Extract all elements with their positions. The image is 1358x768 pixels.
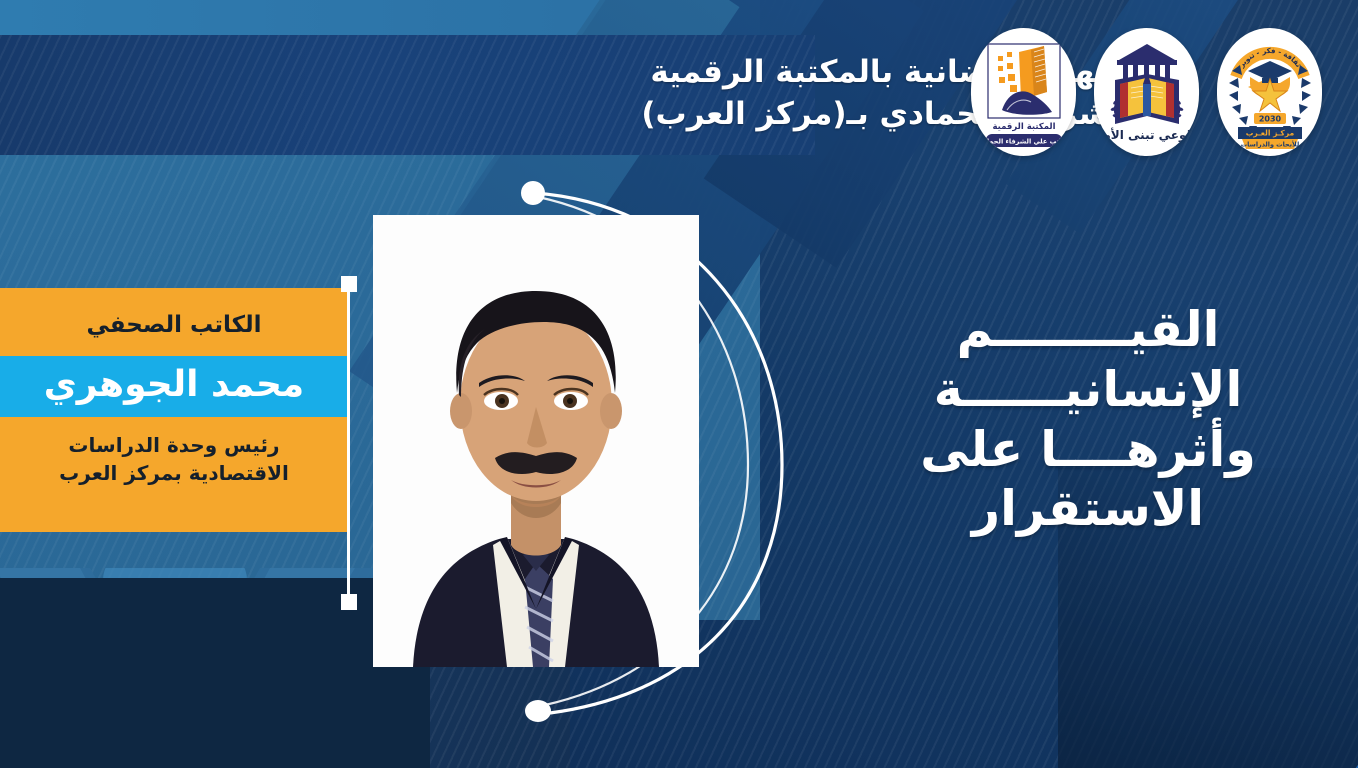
headline-line-1: القيــــــــم <box>878 300 1298 360</box>
book-temple-pen-icon: بالوعي تبنى الأمم <box>1097 32 1197 152</box>
svg-text:للكاتب علي الشرفاء الحمادي: للكاتب علي الشرفاء الحمادي <box>977 138 1070 146</box>
event-poster: سهرة رمضانية بالمكتبة الرقمية للشرفاء ال… <box>0 0 1358 768</box>
open-book-pixels-icon: المكتبة الرقمية للكاتب علي الشرفاء الحما… <box>974 32 1074 152</box>
speaker-role-bottom-line-2: الاقتصادية بمركز العرب <box>18 459 330 487</box>
svg-text:بالوعي تبنى الأمم: بالوعي تبنى الأمم <box>1097 127 1197 143</box>
arab-center-logo[interactable]: ثقافة - فكر - تنوير <box>1217 28 1322 156</box>
digital-library-logo[interactable]: المكتبة الرقمية للكاتب علي الشرفاء الحما… <box>971 28 1076 156</box>
card-connector-line <box>347 282 350 602</box>
headline-line-4: الاستقرار <box>878 479 1298 539</box>
svg-text:مركـز العـرب: مركـز العـرب <box>1245 129 1294 138</box>
awareness-logo[interactable]: بالوعي تبنى الأمم <box>1094 28 1199 156</box>
speaker-role-bottom: رئيس وحدة الدراسات الاقتصادية بمركز العر… <box>0 417 348 532</box>
headline-line-3: وأثرهــــا على <box>878 420 1298 480</box>
card-connector-square-top <box>341 276 357 292</box>
speaker-role-bottom-line-1: رئيس وحدة الدراسات <box>18 431 330 459</box>
speaker-info-card: الكاتب الصحفي محمد الجوهري رئيس وحدة الد… <box>0 288 348 532</box>
logo-row: المكتبة الرقمية للكاتب علي الشرفاء الحما… <box>971 28 1322 156</box>
speaker-photo <box>373 215 699 667</box>
speaker-name: محمد الجوهري <box>0 356 348 417</box>
speaker-role-top: الكاتب الصحفي <box>0 288 348 356</box>
svg-text:للأبحاث والدراسات: للأبحاث والدراسات <box>1240 141 1299 149</box>
bottom-left-dark-fill <box>0 578 430 768</box>
headline-line-2: الإنسانيــــــة <box>878 360 1298 420</box>
svg-text:2030: 2030 <box>1258 115 1281 124</box>
svg-text:المكتبة الرقمية: المكتبة الرقمية <box>992 122 1055 132</box>
star-graduation-wreath-icon: ثقافة - فكر - تنوير <box>1218 31 1322 153</box>
speaker-portrait-illustration <box>373 215 699 667</box>
event-headline: القيــــــــم الإنسانيــــــة وأثرهــــا… <box>878 300 1298 539</box>
card-connector-square-bottom <box>341 594 357 610</box>
